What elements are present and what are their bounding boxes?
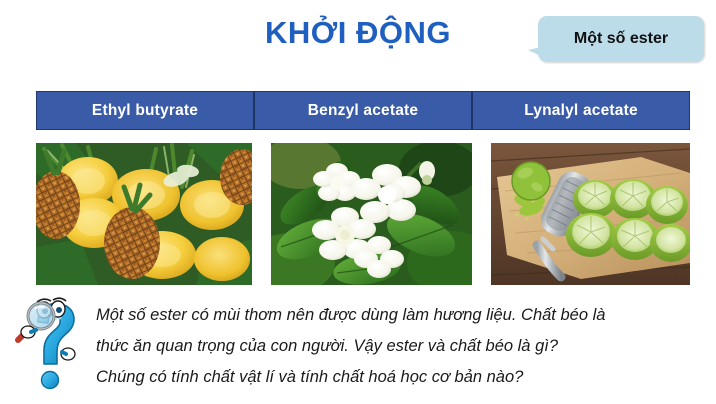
- photo-row: [36, 143, 690, 285]
- prompt-line-3: Chúng có tính chất vật lí và tính chất h…: [96, 362, 706, 393]
- prompt-text-block: Một số ester có mùi thơm nên được dùng l…: [96, 300, 706, 393]
- label-text-benzyl-acetate: Benzyl acetate: [308, 102, 419, 120]
- ester-label-bar: Ethyl butyrate Benzyl acetate Lynalyl ac…: [36, 91, 690, 130]
- prompt-line-1: Một số ester có mùi thơm nên được dùng l…: [96, 300, 706, 331]
- pineapples-photo: [36, 143, 252, 285]
- label-cell-ethyl-butyrate[interactable]: Ethyl butyrate: [37, 92, 255, 129]
- label-text-lynalyl-acetate: Lynalyl acetate: [524, 102, 638, 120]
- question-mark-character: [14, 296, 90, 396]
- callout-body: Một số ester: [538, 16, 704, 62]
- label-text-ethyl-butyrate: Ethyl butyrate: [92, 102, 198, 120]
- prompt-line-2: thức ăn quan trọng của con người. Vậy es…: [96, 331, 706, 362]
- slide-canvas: KHỞI ĐỘNG Một số ester Ethyl butyrate Be…: [0, 0, 716, 404]
- label-cell-benzyl-acetate[interactable]: Benzyl acetate: [255, 92, 473, 129]
- limes-photo: [491, 143, 690, 285]
- callout-bubble: Một số ester: [528, 16, 704, 82]
- label-cell-lynalyl-acetate[interactable]: Lynalyl acetate: [473, 92, 689, 129]
- jasmine-flowers-photo: [271, 143, 472, 285]
- callout-label: Một số ester: [574, 30, 668, 48]
